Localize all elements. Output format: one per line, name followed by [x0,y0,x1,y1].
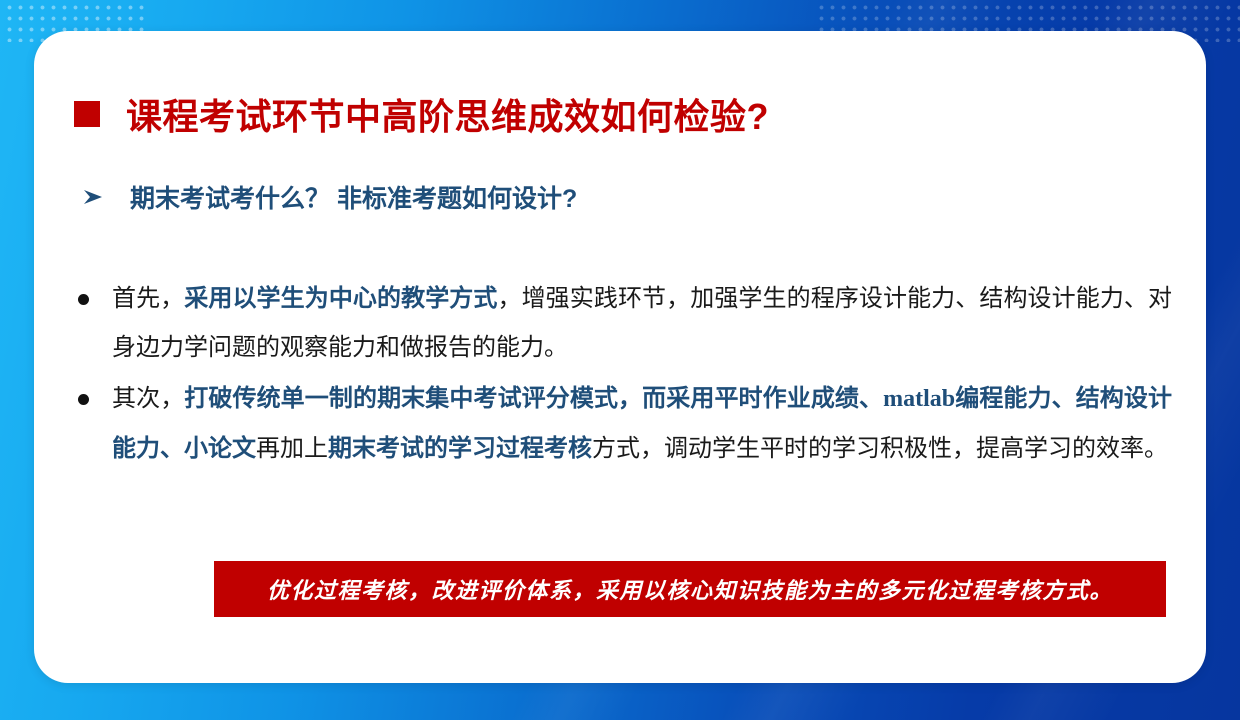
text-run: 打破传统单一制的期末集中考试评分模式，而采用平时作业成绩、 [184,385,883,412]
text-run: 首先， [112,285,184,312]
text-run: 再加上 [256,435,328,462]
page-title: 课程考试环节中高阶思维成效如何检验? [126,88,769,140]
slide-subtitle-row: 期末考试考什么？ 非标准考题如何设计? [82,179,577,215]
list-item: 其次，打破传统单一制的期末集中考试评分模式，而采用平时作业成绩、matlab编程… [74,374,1172,473]
content-card: 课程考试环节中高阶思维成效如何检验? 期末考试考什么？ 非标准考题如何设计? 首… [34,31,1206,683]
square-marker-icon [74,101,100,127]
highlight-banner-text: 优化过程考核，改进评价体系，采用以核心知识技能为主的多元化过程考核方式。 [267,573,1113,605]
list-item: 首先，采用以学生为中心的教学方式，增强实践环节，加强学生的程序设计能力、结构设计… [74,274,1172,372]
text-run: 其次， [112,385,184,412]
text-run: 期末考试的学习过程考核 [328,435,592,462]
text-run: matlab [883,386,955,412]
slide-title-row: 课程考试环节中高阶思维成效如何检验? [74,88,769,140]
body-content: 首先，采用以学生为中心的教学方式，增强实践环节，加强学生的程序设计能力、结构设计… [74,274,1172,475]
slide-root: 课程考试环节中高阶思维成效如何检验? 期末考试考什么？ 非标准考题如何设计? 首… [0,0,1240,720]
highlight-banner: 优化过程考核，改进评价体系，采用以核心知识技能为主的多元化过程考核方式。 [214,561,1166,617]
page-subtitle: 期末考试考什么？ 非标准考题如何设计? [130,179,577,215]
arrow-right-icon [82,187,104,207]
text-run: 方式，调动学生平时的学习积极性，提高学习的效率。 [592,435,1168,462]
text-run: 采用以学生为中心的教学方式 [184,285,497,312]
